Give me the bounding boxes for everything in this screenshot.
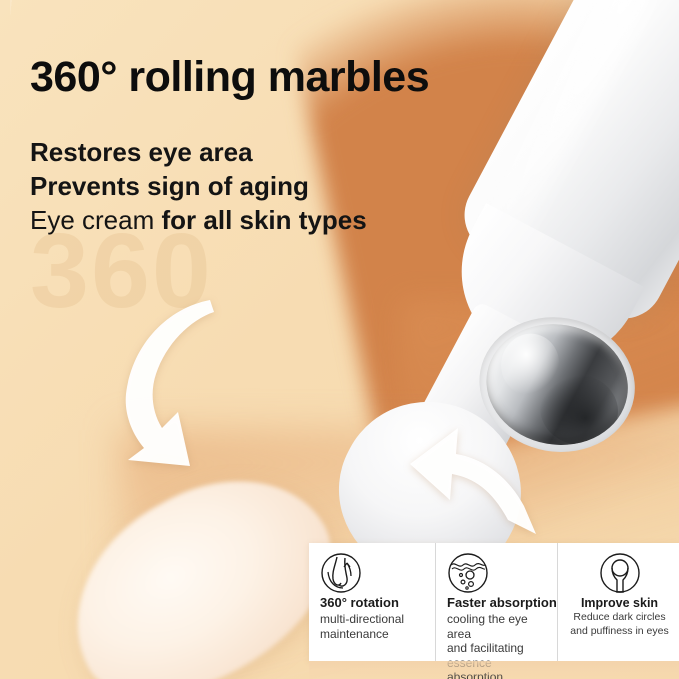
feature-card-absorption: Faster absorption cooling the eye areaan… <box>435 543 557 661</box>
subheading-3-light: Eye cream <box>30 205 162 235</box>
feature-card-improve-skin: Improve skin Reduce dark circlesand puff… <box>557 543 679 661</box>
feature-title: Faster absorption <box>447 596 548 611</box>
panel-bottom-shadow <box>309 661 679 679</box>
feature-desc: Reduce dark circlesand puffiness in eyes <box>569 611 670 637</box>
subheading-3: Eye cream for all skin types <box>30 204 367 238</box>
feature-panel: 360° rotation multi-directionalmaintenan… <box>309 543 679 661</box>
advertisement-canvas: 360 <box>0 0 679 679</box>
subheading-2: Prevents sign of aging <box>30 170 367 204</box>
roller-ball-icon <box>569 551 670 595</box>
subheading-list: Restores eye area Prevents sign of aging… <box>30 136 367 237</box>
feature-desc: multi-directionalmaintenance <box>320 612 426 641</box>
rotation-roller-icon <box>320 551 426 595</box>
subheading-3-strong: for all skin types <box>162 205 367 235</box>
feature-card-rotation: 360° rotation multi-directionalmaintenan… <box>309 543 435 661</box>
water-absorption-icon <box>447 551 548 595</box>
feature-title: Improve skin <box>569 596 670 610</box>
page-title: 360° rolling marbles <box>30 56 429 99</box>
rotation-arrow-right-icon <box>404 424 554 544</box>
feature-title: 360° rotation <box>320 596 426 611</box>
rotation-arrow-left-icon <box>118 292 248 472</box>
subheading-1: Restores eye area <box>30 136 367 170</box>
